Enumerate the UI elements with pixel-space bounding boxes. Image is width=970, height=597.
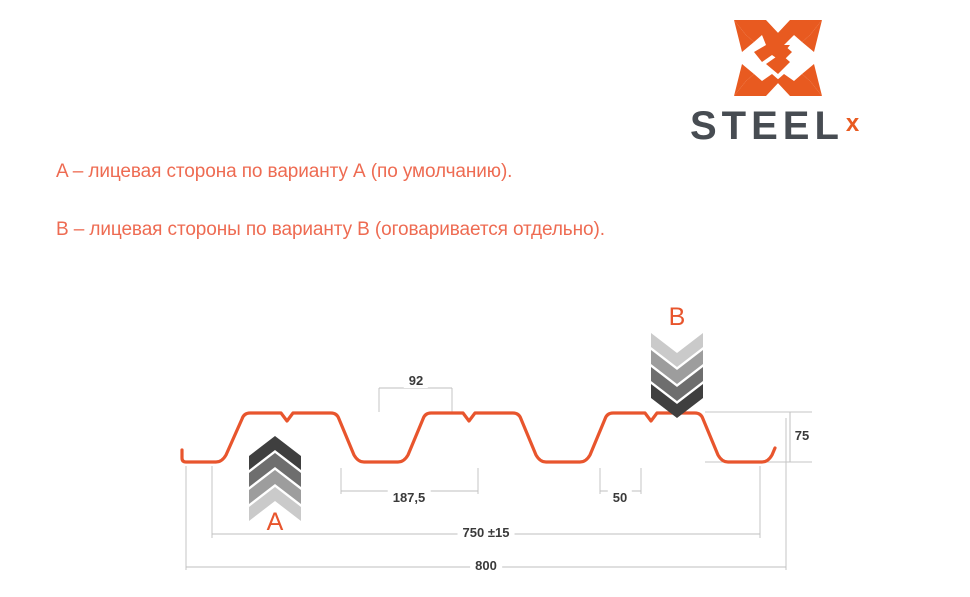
brand-wordmark: STEELx [690,104,910,144]
note-line-b: B – лицевая стороны по варианту B (огова… [56,219,605,241]
dim-label-overall-width: 800 [470,558,502,573]
page-root: STEELx A – лицевая сторона по варианту А… [0,0,970,597]
dim-label-cover-width: 750 ±15 [458,525,515,540]
note-line-a: A – лицевая сторона по варианту А (по ум… [56,161,512,183]
dim-label-rib-top-width: 92 [404,373,428,388]
dimension-extension-lines [186,388,812,570]
dim-label-profile-height: 75 [790,428,814,443]
marker-label-b: B [669,303,686,332]
wordmark-steel: STEEL [690,104,844,148]
profile-outline [182,413,775,462]
dim-label-pitch: 187,5 [388,490,431,505]
dim-label-valley-width: 50 [608,490,632,505]
brand-logo: STEELx [690,18,910,143]
dimension-lines [186,388,790,567]
marker-b-chevrons [651,333,703,418]
marker-label-a: A [267,508,284,537]
steelx-x-mark-icon [732,18,824,98]
wordmark-x-suffix: x [846,110,859,137]
